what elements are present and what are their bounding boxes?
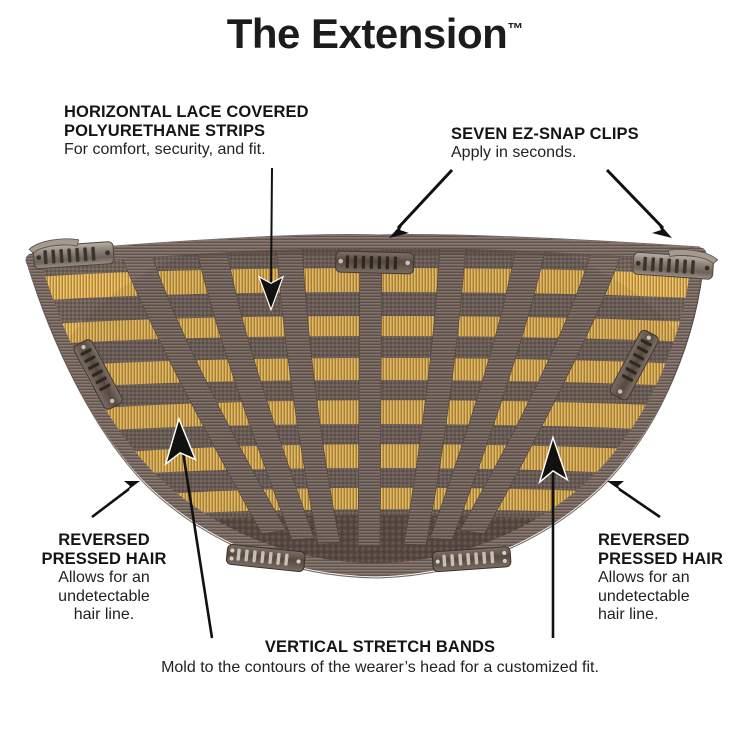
arrow-clips-left [389,170,452,238]
callout-subtext: For comfort, security, and fit. [64,141,364,160]
arrow-reversed-hair-right [607,481,660,517]
callout-subtext-line2: undetectable [598,588,750,607]
callout-heading-line1: REVERSED [18,531,190,550]
callout-polyurethane-strips: HORIZONTAL LACE COVERED POLYURETHANE STR… [64,103,364,160]
diagram-canvas: The Extension™ [0,0,750,750]
arrow-clips-right [607,170,672,238]
callout-subtext-line2: undetectable [18,588,190,607]
callout-heading-line1: REVERSED [598,531,750,550]
callout-reversed-pressed-hair-left: REVERSED PRESSED HAIR Allows for an unde… [18,531,190,625]
arrow-vertical-bands-right [541,440,566,638]
callout-subtext-line1: Allows for an [598,569,750,588]
callout-subtext: Mold to the contours of the wearer’s hea… [130,659,630,678]
callout-heading: SEVEN EZ-SNAP CLIPS [451,125,701,144]
callout-subtext-line1: Allows for an [18,569,190,588]
arrow-reversed-hair-left [92,481,140,517]
callout-subtext: Apply in seconds. [451,144,701,163]
callout-heading-line2: PRESSED HAIR [18,550,190,569]
callout-subtext-line3: hair line. [18,606,190,625]
clip-top-center [335,251,414,274]
callout-heading: VERTICAL STRETCH BANDS [130,638,630,657]
callout-vertical-stretch-bands: VERTICAL STRETCH BANDS Mold to the conto… [130,638,630,678]
callout-ez-snap-clips: SEVEN EZ-SNAP CLIPS Apply in seconds. [451,125,701,163]
clip-top-left [29,235,115,269]
callout-heading-line1: HORIZONTAL LACE COVERED [64,103,364,122]
callout-heading-line2: POLYURETHANE STRIPS [64,122,364,141]
callout-heading-line2: PRESSED HAIR [598,550,750,569]
callout-reversed-pressed-hair-right: REVERSED PRESSED HAIR Allows for an unde… [598,531,750,625]
callout-subtext-line3: hair line. [598,606,750,625]
